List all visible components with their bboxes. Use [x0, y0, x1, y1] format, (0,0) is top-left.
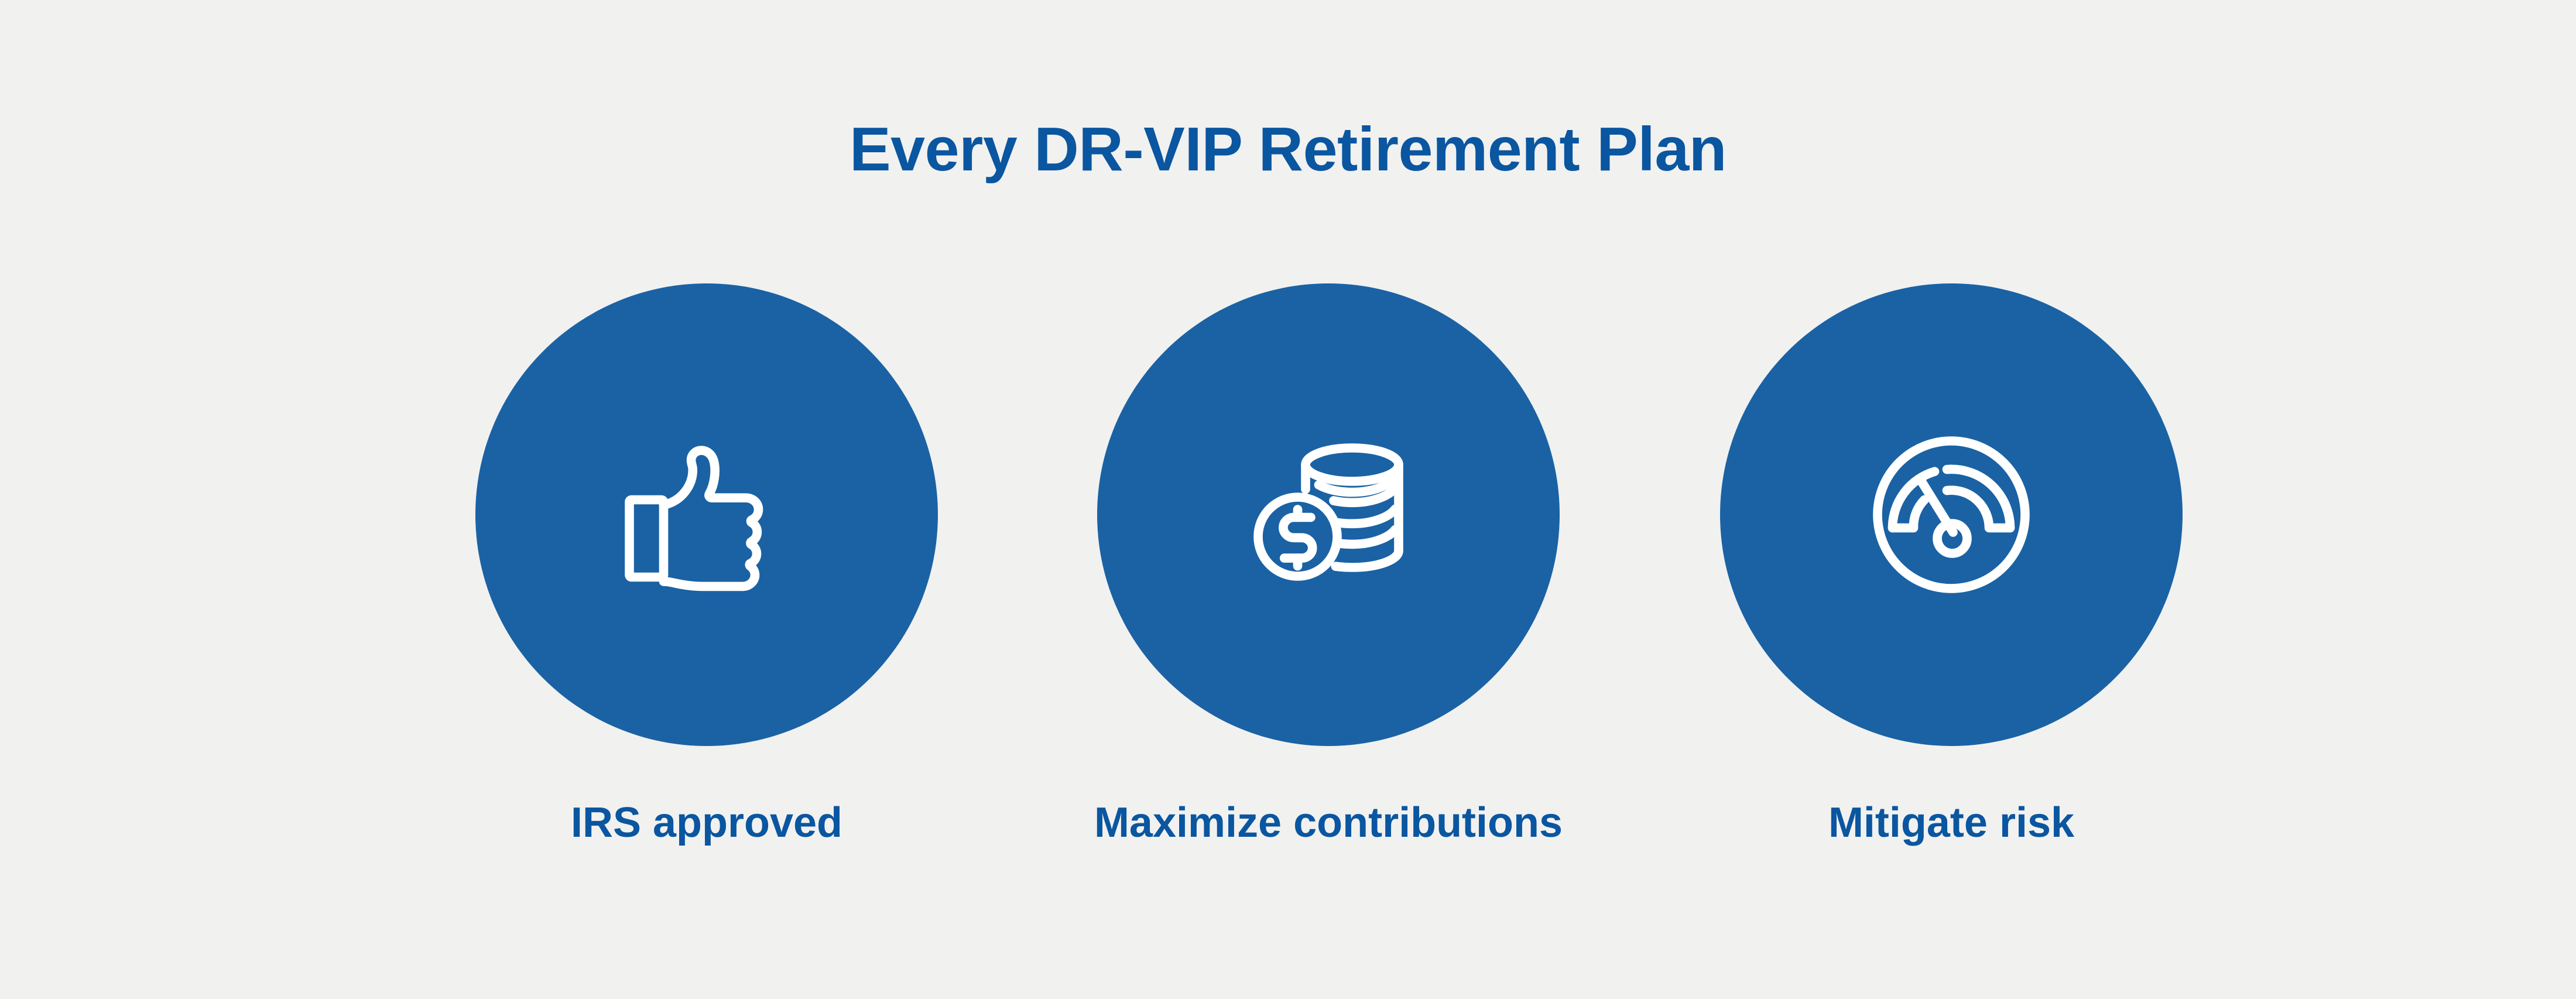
gauge-speedometer-icon — [1864, 427, 2039, 603]
icon-circle-badge — [1097, 283, 1560, 746]
feature-card-label: IRS approved — [571, 800, 842, 846]
feature-card-label: Maximize contributions — [1094, 800, 1563, 846]
feature-card-row: IRS approved — [0, 283, 2576, 904]
feature-card-irs-approved[interactable]: IRS approved — [475, 283, 938, 846]
icon-circle-badge — [1720, 283, 2183, 746]
infographic-panel: Every DR-VIP Retirement Plan IRS approve… — [0, 0, 2576, 999]
feature-card-mitigate-risk[interactable]: Mitigate risk — [1720, 283, 2183, 846]
page-title: Every DR-VIP Retirement Plan — [0, 115, 2576, 184]
feature-card-label: Mitigate risk — [1828, 800, 2074, 846]
coin-stack-dollar-icon — [1241, 427, 1416, 603]
icon-circle-badge — [475, 283, 938, 746]
thumbs-up-icon — [619, 427, 794, 603]
feature-card-maximize-contributions[interactable]: Maximize contributions — [1097, 283, 1560, 846]
